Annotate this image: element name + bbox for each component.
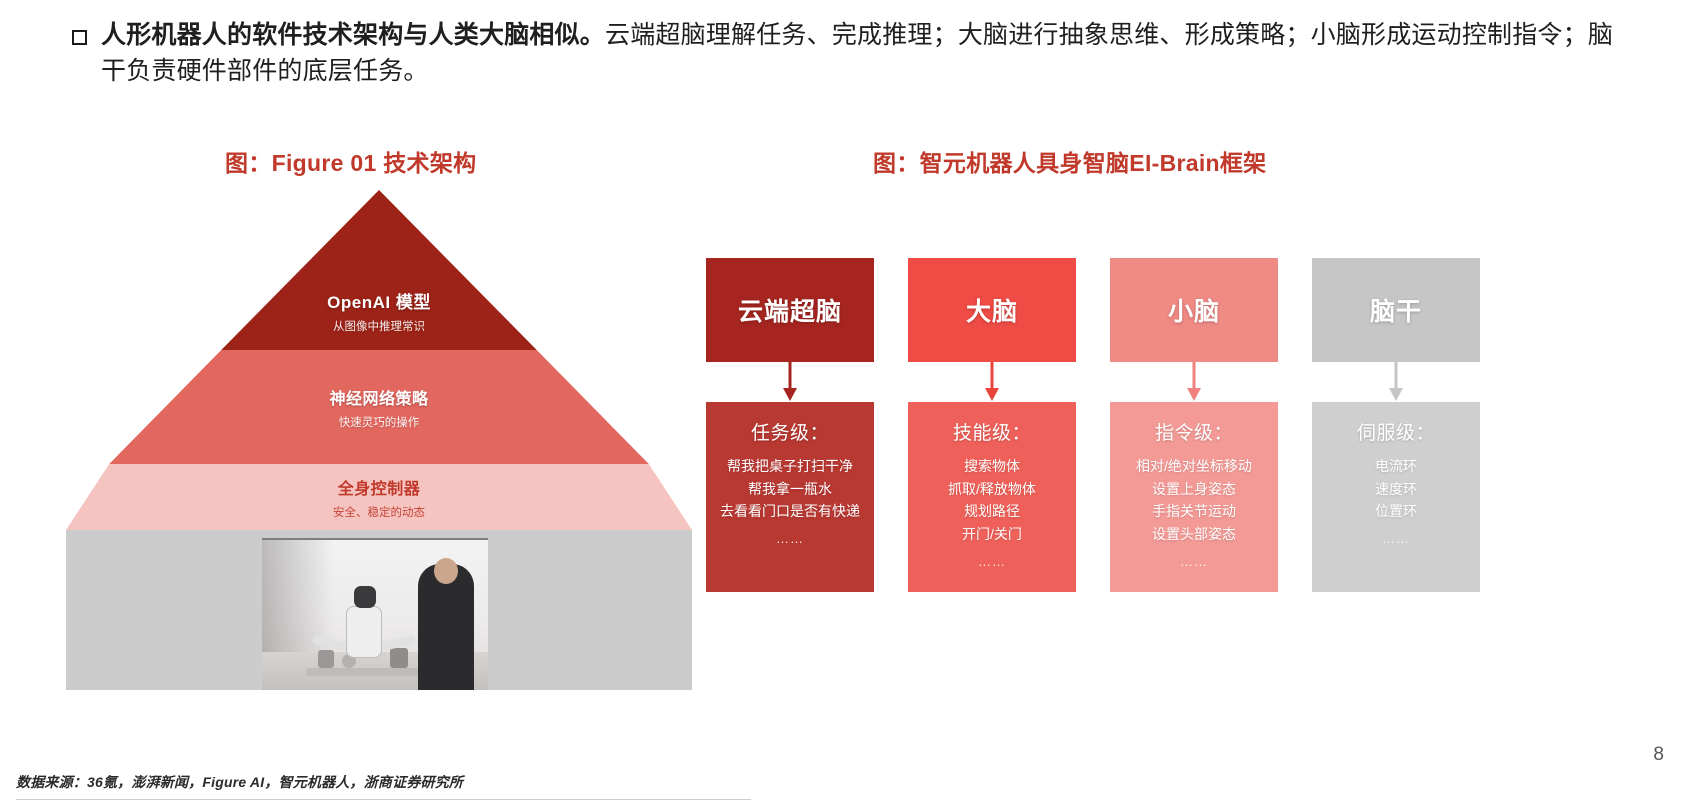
ei-brain-item: 抓取/释放物体 xyxy=(948,478,1036,501)
ei-brain-item: 搜索物体 xyxy=(964,455,1020,478)
pyramid-layer-2-subtitle: 快速灵巧的操作 xyxy=(339,414,420,430)
ei-brain-item: 规划路径 xyxy=(964,500,1020,523)
ei-brain-item: 帮我把桌子打扫干净 xyxy=(727,455,853,478)
ei-brain-item: 速度环 xyxy=(1375,478,1417,501)
ei-brain-bottom-box-1: 任务级： 帮我把桌子打扫干净 帮我拿一瓶水 去看看门口是否有快递 …… xyxy=(706,402,874,592)
photo-person-head xyxy=(434,558,458,584)
photo-object-3 xyxy=(390,648,408,668)
ei-brain-bottom-box-3: 指令级： 相对/绝对坐标移动 设置上身姿态 手指关节运动 设置头部姿态 …… xyxy=(1110,402,1278,592)
photo-table xyxy=(306,668,426,676)
pyramid-layer-1-subtitle: 从图像中推理常识 xyxy=(333,318,425,334)
ei-brain-top-box-1: 云端超脑 xyxy=(706,258,874,362)
arrow-down-icon-3 xyxy=(1110,362,1278,402)
pyramid-layer-neural-network-policy: 神经网络策略 快速灵巧的操作 xyxy=(66,350,692,464)
source-note: 数据来源：36氪，澎湃新闻，Figure AI，智元机器人，浙商证券研究所 xyxy=(16,772,463,792)
ei-brain-item: 位置环 xyxy=(1375,500,1417,523)
robot-demo-photo xyxy=(262,538,488,692)
ei-brain-level-title-2: 技能级： xyxy=(953,418,1031,445)
page-number: 8 xyxy=(1653,744,1664,766)
ei-brain-column-cerebellum: 小脑 指令级： 相对/绝对坐标移动 设置上身姿态 手指关节运动 设置头部姿态 …… xyxy=(1110,258,1278,592)
header-text: 人形机器人的软件技术架构与人类大脑相似。云端超脑理解任务、完成推理；大脑进行抽象… xyxy=(101,18,1632,89)
photo-robot-body xyxy=(346,606,382,658)
ei-brain-bottom-box-2: 技能级： 搜索物体 抓取/释放物体 规划路径 开门/关门 …… xyxy=(908,402,1076,592)
ei-brain-column-cerebrum: 大脑 技能级： 搜索物体 抓取/释放物体 规划路径 开门/关门 …… xyxy=(908,258,1076,592)
ei-brain-bottom-box-4: 伺服级： 电流环 速度环 位置环 …… xyxy=(1312,402,1480,592)
ei-brain-item: 去看看门口是否有快递 xyxy=(720,500,860,523)
ei-brain-column-brainstem: 脑干 伺服级： 电流环 速度环 位置环 …… xyxy=(1312,258,1480,592)
ei-brain-level-title-4: 伺服级： xyxy=(1357,418,1435,445)
ei-brain-item: 相对/绝对坐标移动 xyxy=(1136,455,1252,478)
figure01-pyramid: OpenAI 模型 从图像中推理常识 神经网络策略 快速灵巧的操作 全身控制器 … xyxy=(66,190,692,690)
ei-brain-level-title-3: 指令级： xyxy=(1155,418,1233,445)
ei-brain-item: 设置头部姿态 xyxy=(1152,523,1236,546)
ei-brain-level-title-1: 任务级： xyxy=(751,418,829,445)
ei-brain-item: 手指关节运动 xyxy=(1152,500,1236,523)
pyramid-layer-base xyxy=(66,530,692,690)
pyramid-layer-2-title: 神经网络策略 xyxy=(329,385,428,409)
pyramid-layer-whole-body-controller: 全身控制器 安全、稳定的动态 xyxy=(66,464,692,530)
ei-brain-top-box-3: 小脑 xyxy=(1110,258,1278,362)
ei-brain-ellipsis-4: …… xyxy=(1382,531,1410,546)
left-panel-title: 图：Figure 01 技术架构 xyxy=(225,144,476,178)
ei-brain-ellipsis-1: …… xyxy=(776,531,804,546)
photo-robot-head xyxy=(354,586,376,608)
ei-brain-ellipsis-3: …… xyxy=(1180,554,1208,569)
pyramid-layer-3-subtitle: 安全、稳定的动态 xyxy=(333,504,425,520)
ei-brain-item: 开门/关门 xyxy=(962,523,1022,546)
ei-brain-column-cloud-brain: 云端超脑 任务级： 帮我把桌子打扫干净 帮我拿一瓶水 去看看门口是否有快递 …… xyxy=(706,258,874,592)
ei-brain-item: 设置上身姿态 xyxy=(1152,478,1236,501)
arrow-down-icon-2 xyxy=(908,362,1076,402)
ei-brain-framework: 云端超脑 任务级： 帮我把桌子打扫干净 帮我拿一瓶水 去看看门口是否有快递 ……… xyxy=(706,258,1481,592)
ei-brain-top-box-2: 大脑 xyxy=(908,258,1076,362)
arrow-down-icon-1 xyxy=(706,362,874,402)
slide-header: 人形机器人的软件技术架构与人类大脑相似。云端超脑理解任务、完成推理；大脑进行抽象… xyxy=(72,18,1632,89)
ei-brain-item: 电流环 xyxy=(1375,455,1417,478)
arrow-down-icon-4 xyxy=(1312,362,1480,402)
photo-object-1 xyxy=(318,650,334,668)
pyramid-layer-1-title: OpenAI 模型 xyxy=(327,288,431,313)
ei-brain-ellipsis-2: …… xyxy=(978,554,1006,569)
ei-brain-top-box-4: 脑干 xyxy=(1312,258,1480,362)
pyramid-layer-openai-model: OpenAI 模型 从图像中推理常识 xyxy=(66,190,692,350)
footer-divider xyxy=(16,799,751,800)
header-lead: 人形机器人的软件技术架构与人类大脑相似。 xyxy=(101,21,605,49)
ei-brain-item: 帮我拿一瓶水 xyxy=(748,478,832,501)
right-panel-title: 图：智元机器人具身智脑EI-Brain框架 xyxy=(873,144,1266,178)
pyramid-layer-3-title: 全身控制器 xyxy=(338,475,421,499)
bullet-square-icon xyxy=(72,30,87,45)
